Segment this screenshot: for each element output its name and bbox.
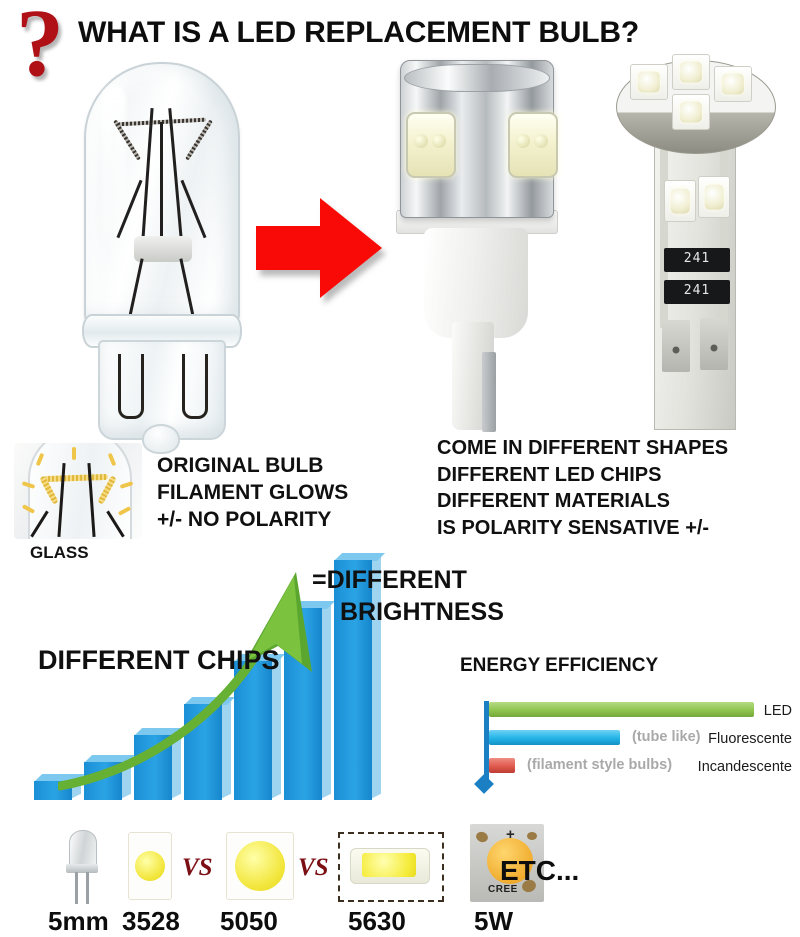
pcb-pad-right	[700, 318, 728, 370]
original-bulb-line-1: ORIGINAL BULB	[157, 452, 348, 479]
chip-comparison-row: 5mm 3528 VS 5050 VS 5630 + CREE 5W	[30, 824, 770, 934]
energy-bar-led	[489, 702, 754, 717]
vs-separator-1: VS	[182, 854, 213, 882]
chip-label-5w: 5W	[474, 906, 513, 937]
brightness-line-1: =DIFFERENT	[312, 564, 504, 596]
chart-bar-3	[134, 735, 172, 800]
filament-closeup-image	[14, 443, 142, 539]
original-bulb-line-3: +/- NO POLARITY	[157, 506, 348, 533]
pcb-led-bulb-image: 241 241	[610, 52, 780, 438]
chart-bar-2	[84, 762, 122, 800]
vs-separator-2: VS	[298, 854, 329, 882]
smd-led-top-2	[672, 54, 710, 90]
chip-image-5mm	[62, 830, 102, 904]
original-bulb-line-2: FILAMENT GLOWS	[157, 479, 348, 506]
original-bulb-description: ORIGINAL BULB FILAMENT GLOWS +/- NO POLA…	[157, 452, 348, 533]
page-title: WHAT IS A LED REPLACEMENT BULB?	[78, 16, 778, 50]
led-features-description: COME IN DIFFERENT SHAPES DIFFERENT LED C…	[437, 435, 728, 541]
led-feature-line-3: DIFFERENT MATERIALS	[437, 488, 728, 515]
chip-label-3528: 3528	[122, 906, 180, 937]
energy-efficiency-chart: ENERGY EFFICIENCY LED Fluorescente Incan…	[352, 655, 792, 795]
chip-image-3528	[128, 832, 172, 900]
led-feature-line-2: DIFFERENT LED CHIPS	[437, 462, 728, 489]
resistor-2: 241	[664, 280, 730, 304]
energy-note-incandescente: (filament style bulbs)	[527, 757, 672, 773]
chip-label-5mm: 5mm	[48, 906, 109, 937]
base-wire-left	[118, 354, 144, 419]
chart-bar-1	[34, 781, 72, 800]
energy-bar-fluorescente	[489, 730, 620, 745]
arrow-right-icon	[254, 196, 384, 300]
led-stem-contact	[482, 352, 496, 432]
chart-bar-5	[234, 661, 272, 800]
led-chrome-rim	[404, 64, 550, 92]
different-chips-bar-chart	[28, 560, 328, 800]
smd-led-top-3	[714, 66, 752, 102]
smd-led-top-4	[672, 94, 710, 130]
smd-led-top-1	[630, 64, 668, 100]
chrome-led-bulb-image	[390, 60, 570, 440]
led-emitter-left	[406, 112, 456, 178]
smd-led-side-2	[698, 176, 730, 218]
chip-label-5630: 5630	[348, 906, 406, 937]
smd-led-side-1	[664, 180, 696, 222]
bulb-wedge-tip	[142, 424, 180, 454]
base-wire-right	[182, 354, 208, 419]
energy-row-label-incandescente: Incandescente	[668, 759, 792, 775]
chart-bar-4	[184, 704, 222, 800]
brightness-line-2: BRIGHTNESS	[312, 596, 504, 628]
different-brightness-callout: =DIFFERENT BRIGHTNESS	[312, 564, 504, 628]
etc-label: ETC...	[500, 855, 579, 887]
incandescent-bulb-image	[60, 62, 260, 434]
energy-bar-incandescente	[489, 758, 515, 773]
pcb-pad-left	[662, 320, 690, 372]
filament-center-lead	[160, 122, 163, 240]
led-emitter-right	[508, 112, 558, 178]
chip-image-5050	[226, 832, 294, 900]
glow-ray-2	[72, 447, 76, 460]
energy-note-fluorescente: (tube like)	[632, 729, 700, 745]
chip-label-5050: 5050	[220, 906, 278, 937]
led-feature-line-4: IS POLARITY SENSATIVE +/-	[437, 515, 728, 542]
chart-bar-6	[284, 608, 322, 800]
different-chips-heading: DIFFERENT CHIPS	[38, 645, 280, 676]
energy-chart-title: ENERGY EFFICIENCY	[460, 655, 658, 677]
led-feature-line-1: COME IN DIFFERENT SHAPES	[437, 435, 728, 462]
chip-image-5630	[338, 832, 444, 902]
resistor-1: 241	[664, 248, 730, 272]
